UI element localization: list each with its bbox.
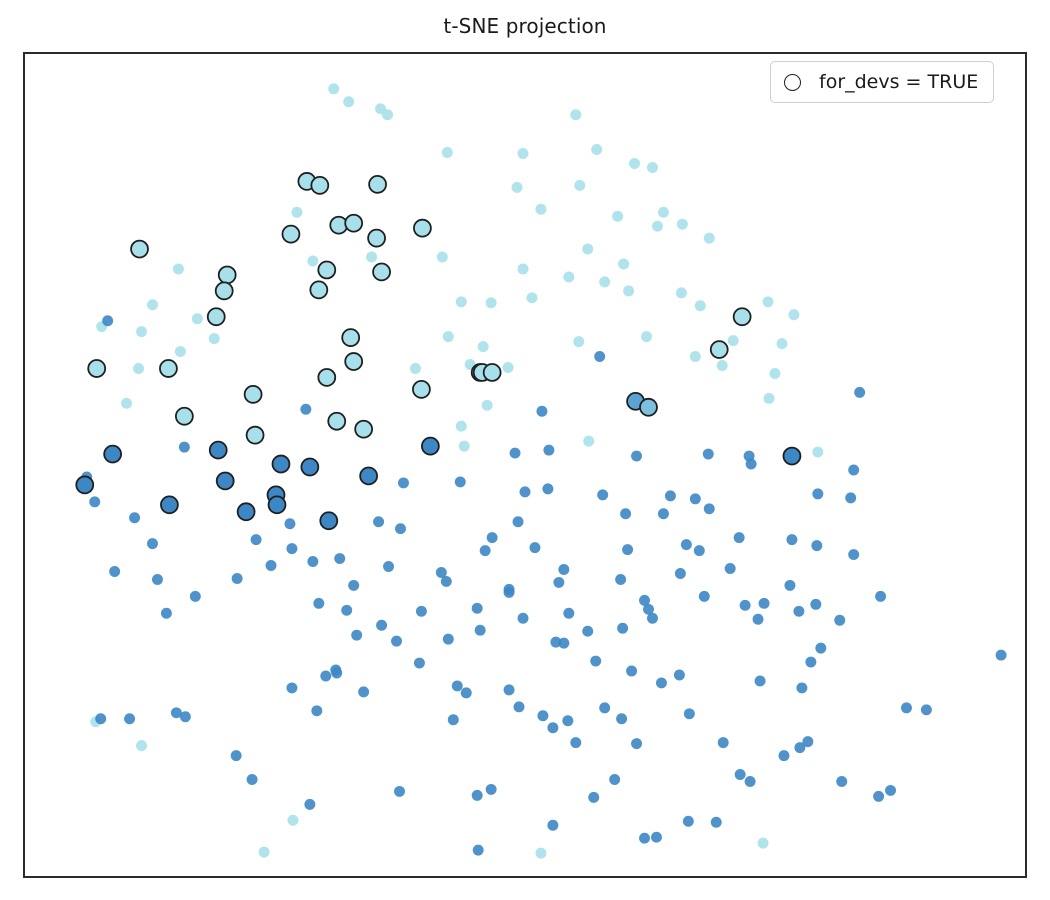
scatter-point bbox=[351, 630, 362, 641]
scatter-point bbox=[414, 658, 425, 669]
scatter-point bbox=[209, 333, 220, 344]
scatter-point bbox=[328, 413, 345, 430]
scatter-point bbox=[342, 329, 359, 346]
scatter-point bbox=[307, 256, 318, 267]
scatter-point bbox=[735, 769, 746, 780]
scatter-point bbox=[591, 144, 602, 155]
scatter-point bbox=[590, 656, 601, 667]
scatter-point bbox=[441, 576, 452, 587]
scatter-point bbox=[815, 643, 826, 654]
scatter-point bbox=[475, 625, 486, 636]
scatter-point bbox=[784, 580, 795, 591]
scatter-point bbox=[147, 538, 158, 549]
scatter-point bbox=[368, 230, 385, 247]
scatter-point bbox=[547, 820, 558, 831]
scatter-point bbox=[473, 845, 484, 856]
scatter-point bbox=[582, 244, 593, 255]
scatter-point bbox=[478, 341, 489, 352]
scatter-point bbox=[486, 784, 497, 795]
scatter-point bbox=[284, 518, 295, 529]
scatter-point bbox=[459, 441, 470, 452]
scatter-point bbox=[778, 750, 789, 761]
scatter-point bbox=[179, 442, 190, 453]
legend-marker-circle-icon bbox=[784, 74, 801, 91]
scatter-point bbox=[802, 736, 813, 747]
scatter-point bbox=[641, 331, 652, 342]
scatter-point bbox=[740, 600, 751, 611]
scatter-point bbox=[147, 299, 158, 310]
scatter-point bbox=[512, 182, 523, 193]
scatter-point bbox=[626, 666, 637, 677]
scatter-point bbox=[755, 675, 766, 686]
scatter-point bbox=[176, 408, 193, 425]
scatter-point bbox=[699, 591, 710, 602]
scatter-point bbox=[89, 496, 100, 507]
scatter-point bbox=[456, 421, 467, 432]
scatter-point bbox=[456, 296, 467, 307]
scatter-point bbox=[455, 476, 466, 487]
scatter-point bbox=[734, 308, 751, 325]
scatter-point bbox=[394, 786, 405, 797]
scatter-point bbox=[753, 614, 764, 625]
scatter-point bbox=[529, 542, 540, 553]
scatter-point bbox=[88, 360, 105, 377]
scatter-point bbox=[694, 545, 705, 556]
scatter-point bbox=[658, 207, 669, 218]
scatter-point bbox=[355, 421, 372, 438]
scatter-point bbox=[537, 710, 548, 721]
scatter-point bbox=[413, 381, 430, 398]
scatter-point bbox=[734, 532, 745, 543]
scatter-point bbox=[783, 448, 800, 465]
scatter-point bbox=[615, 574, 626, 585]
scatter-point bbox=[845, 492, 856, 503]
scatter-point bbox=[161, 608, 172, 619]
scatter-point bbox=[286, 543, 297, 554]
scatter-point bbox=[854, 387, 865, 398]
scatter-point bbox=[703, 449, 714, 460]
scatter-point bbox=[442, 147, 453, 158]
scatter-point bbox=[311, 177, 328, 194]
scatter-point bbox=[536, 406, 547, 417]
scatter-point bbox=[683, 816, 694, 827]
scatter-point bbox=[373, 516, 384, 527]
scatter-point bbox=[504, 684, 515, 695]
scatter-point bbox=[690, 493, 701, 504]
scatter-point bbox=[121, 398, 132, 409]
scatter-point bbox=[503, 362, 514, 373]
scatter-point bbox=[746, 459, 757, 470]
scatter-point bbox=[487, 532, 498, 543]
scatter-point bbox=[269, 496, 286, 513]
scatter-point bbox=[617, 623, 628, 634]
scatter-point bbox=[192, 313, 203, 324]
scatter-point bbox=[245, 386, 262, 403]
scatter-point bbox=[684, 708, 695, 719]
scatter-point bbox=[759, 598, 770, 609]
scatter-point bbox=[286, 682, 297, 693]
scatter-point bbox=[437, 252, 448, 263]
scatter-point bbox=[291, 207, 302, 218]
scatter-point bbox=[676, 287, 687, 298]
scatter-point bbox=[136, 326, 147, 337]
scatter-point bbox=[542, 483, 553, 494]
scatter-point bbox=[443, 634, 454, 645]
scatter-point bbox=[599, 702, 610, 713]
scatter-point bbox=[558, 564, 569, 575]
scatter-point bbox=[307, 556, 318, 567]
scatter-point bbox=[665, 490, 676, 501]
scatter-point bbox=[588, 792, 599, 803]
scatter-point bbox=[318, 261, 335, 278]
scatter-point bbox=[133, 363, 144, 374]
scatter-point bbox=[443, 331, 454, 342]
scatter-point bbox=[259, 847, 270, 858]
scatter-point bbox=[448, 714, 459, 725]
scatter-point bbox=[160, 360, 177, 377]
scatter-point bbox=[217, 472, 234, 489]
scatter-point bbox=[231, 750, 242, 761]
scatter-point bbox=[640, 399, 657, 416]
scatter-point bbox=[553, 577, 564, 588]
scatter-point bbox=[480, 545, 491, 556]
scatter-point bbox=[690, 351, 701, 362]
scatter-point bbox=[647, 613, 658, 624]
scatter-point bbox=[582, 626, 593, 637]
scatter-point bbox=[547, 722, 558, 733]
scatter-point bbox=[391, 636, 402, 647]
scatter-point bbox=[247, 427, 264, 444]
scatter-point bbox=[563, 271, 574, 282]
scatter-point bbox=[631, 738, 642, 749]
scatter-point bbox=[873, 791, 884, 802]
scatter-point bbox=[834, 615, 845, 626]
legend-label: for_devs = TRUE bbox=[819, 71, 978, 93]
scatter-point bbox=[810, 599, 821, 610]
scatter-point bbox=[331, 668, 342, 679]
scatter-point bbox=[320, 512, 337, 529]
scatter-point bbox=[573, 336, 584, 347]
scatter-point bbox=[482, 400, 493, 411]
scatter-point bbox=[328, 83, 339, 94]
scatter-point bbox=[535, 848, 546, 859]
scatter-point bbox=[570, 109, 581, 120]
scatter-point bbox=[472, 790, 483, 801]
scatter-point bbox=[510, 448, 521, 459]
scatter-point bbox=[348, 580, 359, 591]
scatter-point bbox=[208, 308, 225, 325]
scatter-point bbox=[652, 221, 663, 232]
scatter-point bbox=[514, 701, 525, 712]
scatter-point bbox=[901, 702, 912, 713]
scatter-point bbox=[382, 109, 393, 120]
scatter-point bbox=[414, 220, 431, 237]
scatter-point bbox=[574, 180, 585, 191]
scatter-point bbox=[300, 404, 311, 415]
scatter-point bbox=[776, 338, 787, 349]
scatter-point bbox=[518, 613, 529, 624]
scatter-point bbox=[310, 281, 327, 298]
scatter-point bbox=[609, 774, 620, 785]
scatter-point bbox=[758, 838, 769, 849]
scatter-point bbox=[658, 508, 669, 519]
scatter-point bbox=[232, 573, 243, 584]
scatter-point bbox=[422, 438, 439, 455]
scatter-point bbox=[373, 263, 390, 280]
scatter-point bbox=[395, 523, 406, 534]
scatter-point bbox=[718, 737, 729, 748]
scatter-point bbox=[725, 563, 736, 574]
scatter-point bbox=[104, 446, 121, 463]
scatter-point bbox=[341, 605, 352, 616]
scatter-point bbox=[622, 544, 633, 555]
scatter-point bbox=[210, 442, 227, 459]
scatter-point bbox=[102, 315, 113, 326]
scatter-point bbox=[416, 606, 427, 617]
scatter-point bbox=[266, 560, 277, 571]
scatter-point bbox=[95, 713, 106, 724]
scatter-point bbox=[717, 360, 728, 371]
scatter-point bbox=[639, 833, 650, 844]
scatter-point bbox=[76, 476, 93, 493]
scatter-point bbox=[383, 561, 394, 572]
scatter-point bbox=[287, 815, 298, 826]
scatter-point bbox=[180, 711, 191, 722]
scatter-point bbox=[796, 682, 807, 693]
scatter-point bbox=[366, 252, 377, 263]
scatter-point bbox=[651, 832, 662, 843]
scatter-point bbox=[677, 219, 688, 230]
scatter-point bbox=[152, 574, 163, 585]
scatter-point bbox=[885, 785, 896, 796]
legend[interactable]: for_devs = TRUE bbox=[770, 61, 994, 103]
scatter-point bbox=[629, 158, 640, 169]
scatter-point bbox=[599, 276, 610, 287]
scatter-point bbox=[793, 606, 804, 617]
scatter-point bbox=[788, 309, 799, 320]
scatter-point bbox=[513, 516, 524, 527]
scatter-point bbox=[812, 488, 823, 499]
scatter-point bbox=[770, 368, 781, 379]
scatter-point bbox=[345, 353, 362, 370]
scatter-point bbox=[124, 713, 135, 724]
scatter-point bbox=[238, 503, 255, 520]
scatter-point bbox=[612, 211, 623, 222]
scatter-point bbox=[563, 608, 574, 619]
scatter-point bbox=[647, 162, 658, 173]
scatter-point bbox=[518, 263, 529, 274]
scatter-point bbox=[358, 686, 369, 697]
scatter-point bbox=[623, 285, 634, 296]
scatter-point bbox=[472, 603, 483, 614]
scatter-point bbox=[247, 774, 258, 785]
scatter-point bbox=[675, 568, 686, 579]
scatter-point bbox=[704, 503, 715, 514]
scatter-point bbox=[711, 817, 722, 828]
scatter-point bbox=[594, 351, 605, 362]
scatter-point bbox=[311, 705, 322, 716]
scatter-point bbox=[811, 540, 822, 551]
scatter-point bbox=[583, 436, 594, 447]
scatter-point bbox=[518, 148, 529, 159]
scatter-point bbox=[875, 591, 886, 602]
scatter-point bbox=[812, 447, 823, 458]
scatter-point bbox=[219, 266, 236, 283]
scatter-point bbox=[136, 740, 147, 751]
scatter-point bbox=[301, 459, 318, 476]
scatter-point bbox=[786, 534, 797, 545]
scatter-plot-canvas bbox=[25, 54, 1025, 876]
scatter-point bbox=[597, 489, 608, 500]
scatter-point bbox=[526, 292, 537, 303]
scatter-point bbox=[343, 96, 354, 107]
scatter-point bbox=[681, 539, 692, 550]
scatter-point bbox=[175, 346, 186, 357]
scatter-point bbox=[334, 553, 345, 564]
scatter-point bbox=[109, 566, 120, 577]
scatter-point bbox=[273, 456, 290, 473]
scatter-point bbox=[562, 715, 573, 726]
scatter-point bbox=[461, 687, 472, 698]
plot-axes-frame bbox=[23, 52, 1027, 878]
scatter-point bbox=[836, 776, 847, 787]
tsne-scatter-figure: t-SNE projection for_devs = TRUE bbox=[0, 0, 1050, 900]
scatter-point bbox=[369, 176, 386, 193]
scatter-point bbox=[216, 282, 233, 299]
scatter-point bbox=[486, 297, 497, 308]
scatter-point bbox=[129, 512, 140, 523]
scatter-point bbox=[695, 300, 706, 311]
scatter-point bbox=[996, 650, 1007, 661]
scatter-point bbox=[173, 263, 184, 274]
scatter-point bbox=[190, 591, 201, 602]
scatter-point bbox=[251, 534, 262, 545]
scatter-point bbox=[764, 393, 775, 404]
scatter-point bbox=[848, 465, 859, 476]
scatter-point bbox=[131, 241, 148, 258]
scatter-point bbox=[618, 259, 629, 270]
scatter-point bbox=[656, 677, 667, 688]
scatter-point bbox=[504, 584, 515, 595]
scatter-point bbox=[570, 737, 581, 748]
scatter-point bbox=[763, 296, 774, 307]
scatter-point bbox=[376, 620, 387, 631]
scatter-point bbox=[452, 680, 463, 691]
scatter-point bbox=[520, 486, 531, 497]
scatter-point bbox=[313, 598, 324, 609]
scatter-point bbox=[360, 467, 377, 484]
scatter-point bbox=[543, 445, 554, 456]
scatter-point bbox=[728, 335, 739, 346]
scatter-point bbox=[282, 226, 299, 243]
scatter-point bbox=[711, 341, 728, 358]
scatter-point bbox=[410, 363, 421, 374]
scatter-point bbox=[848, 549, 859, 560]
scatter-point bbox=[745, 776, 756, 787]
page-title: t-SNE projection bbox=[0, 14, 1050, 38]
scatter-point bbox=[631, 451, 642, 462]
scatter-point bbox=[674, 670, 685, 681]
scatter-point bbox=[704, 233, 715, 244]
scatter-point bbox=[805, 657, 816, 668]
scatter-point bbox=[304, 799, 315, 810]
scatter-point bbox=[921, 704, 932, 715]
scatter-point bbox=[484, 364, 501, 381]
scatter-point bbox=[398, 477, 409, 488]
scatter-point bbox=[320, 671, 331, 682]
scatter-point bbox=[620, 508, 631, 519]
scatter-point bbox=[345, 215, 362, 232]
scatter-point bbox=[161, 496, 178, 513]
scatter-point bbox=[558, 638, 569, 649]
scatter-point bbox=[616, 713, 627, 724]
scatter-point bbox=[535, 204, 546, 215]
scatter-point bbox=[318, 369, 335, 386]
